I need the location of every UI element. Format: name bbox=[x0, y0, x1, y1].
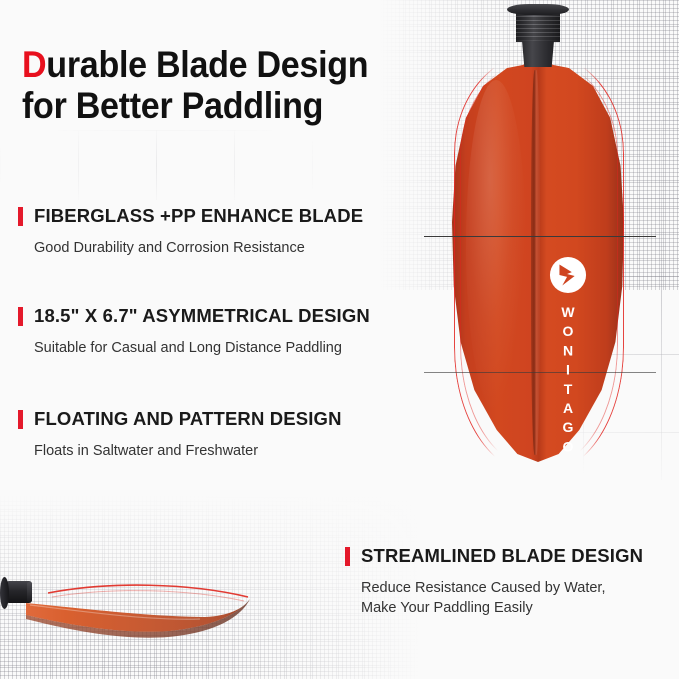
feature-subtitle: Reduce Resistance Caused by Water, Make … bbox=[361, 578, 675, 618]
feature-title-row: 18.5" X 6.7" ASYMMETRICAL DESIGN bbox=[18, 305, 418, 327]
headline-accent-letter: D bbox=[22, 44, 46, 85]
feature-title-row: FIBERGLASS +PP ENHANCE BLADE bbox=[18, 205, 418, 227]
feature-title: 18.5" X 6.7" ASYMMETRICAL DESIGN bbox=[34, 305, 370, 327]
profile-ferrule-ring bbox=[27, 582, 32, 602]
red-bullet-icon bbox=[345, 547, 350, 566]
blade-width-measure-line-top bbox=[424, 236, 656, 237]
feature-subtitle-line-1: Reduce Resistance Caused by Water, bbox=[361, 578, 675, 598]
profile-ferrule-disc bbox=[0, 577, 9, 609]
ferrule-cap bbox=[507, 4, 569, 15]
feature-title: STREAMLINED BLADE DESIGN bbox=[361, 545, 643, 567]
background-grid-top-left bbox=[0, 130, 330, 200]
brand-mark: WONITAGO bbox=[541, 256, 595, 458]
feature-item-floating: FLOATING AND PATTERN DESIGN Floats in Sa… bbox=[18, 408, 418, 461]
feature-subtitle: Good Durability and Corrosion Resistance bbox=[34, 238, 418, 258]
feature-subtitle: Suitable for Casual and Long Distance Pa… bbox=[34, 338, 418, 358]
paddle-blade-profile-image bbox=[0, 555, 300, 645]
feature-title: FLOATING AND PATTERN DESIGN bbox=[34, 408, 342, 430]
red-bullet-icon bbox=[18, 307, 23, 326]
product-infographic: Durable Blade Design for Better Paddling… bbox=[0, 0, 679, 679]
brand-name-text: WONITAGO bbox=[561, 304, 575, 458]
feature-item-streamlined: STREAMLINED BLADE DESIGN Reduce Resistan… bbox=[345, 545, 675, 618]
feature-item-fiberglass: FIBERGLASS +PP ENHANCE BLADE Good Durabi… bbox=[18, 205, 418, 258]
headline-line-1: Durable Blade Design bbox=[22, 44, 390, 85]
headline-line-2: for Better Paddling bbox=[22, 85, 390, 126]
feature-subtitle: Floats in Saltwater and Freshwater bbox=[34, 441, 418, 461]
ferrule-ribs bbox=[516, 16, 560, 40]
paddle-blade-face-image bbox=[432, 0, 647, 470]
red-bullet-icon bbox=[18, 207, 23, 226]
feature-subtitle-line-2: Make Your Paddling Easily bbox=[361, 598, 675, 618]
feature-title-row: FLOATING AND PATTERN DESIGN bbox=[18, 408, 418, 430]
feature-title-row: STREAMLINED BLADE DESIGN bbox=[345, 545, 675, 567]
blade-width-measure-line-bottom bbox=[424, 372, 656, 373]
wonitago-arrow-circle-logo-icon bbox=[549, 256, 587, 294]
blade-profile-svg bbox=[0, 555, 300, 645]
feature-item-asymmetrical: 18.5" X 6.7" ASYMMETRICAL DESIGN Suitabl… bbox=[18, 305, 418, 358]
red-bullet-icon bbox=[18, 410, 23, 429]
feature-title: FIBERGLASS +PP ENHANCE BLADE bbox=[34, 205, 363, 227]
headline-line-1-text: urable Blade Design bbox=[46, 44, 368, 85]
page-title: Durable Blade Design for Better Paddling bbox=[22, 44, 422, 126]
